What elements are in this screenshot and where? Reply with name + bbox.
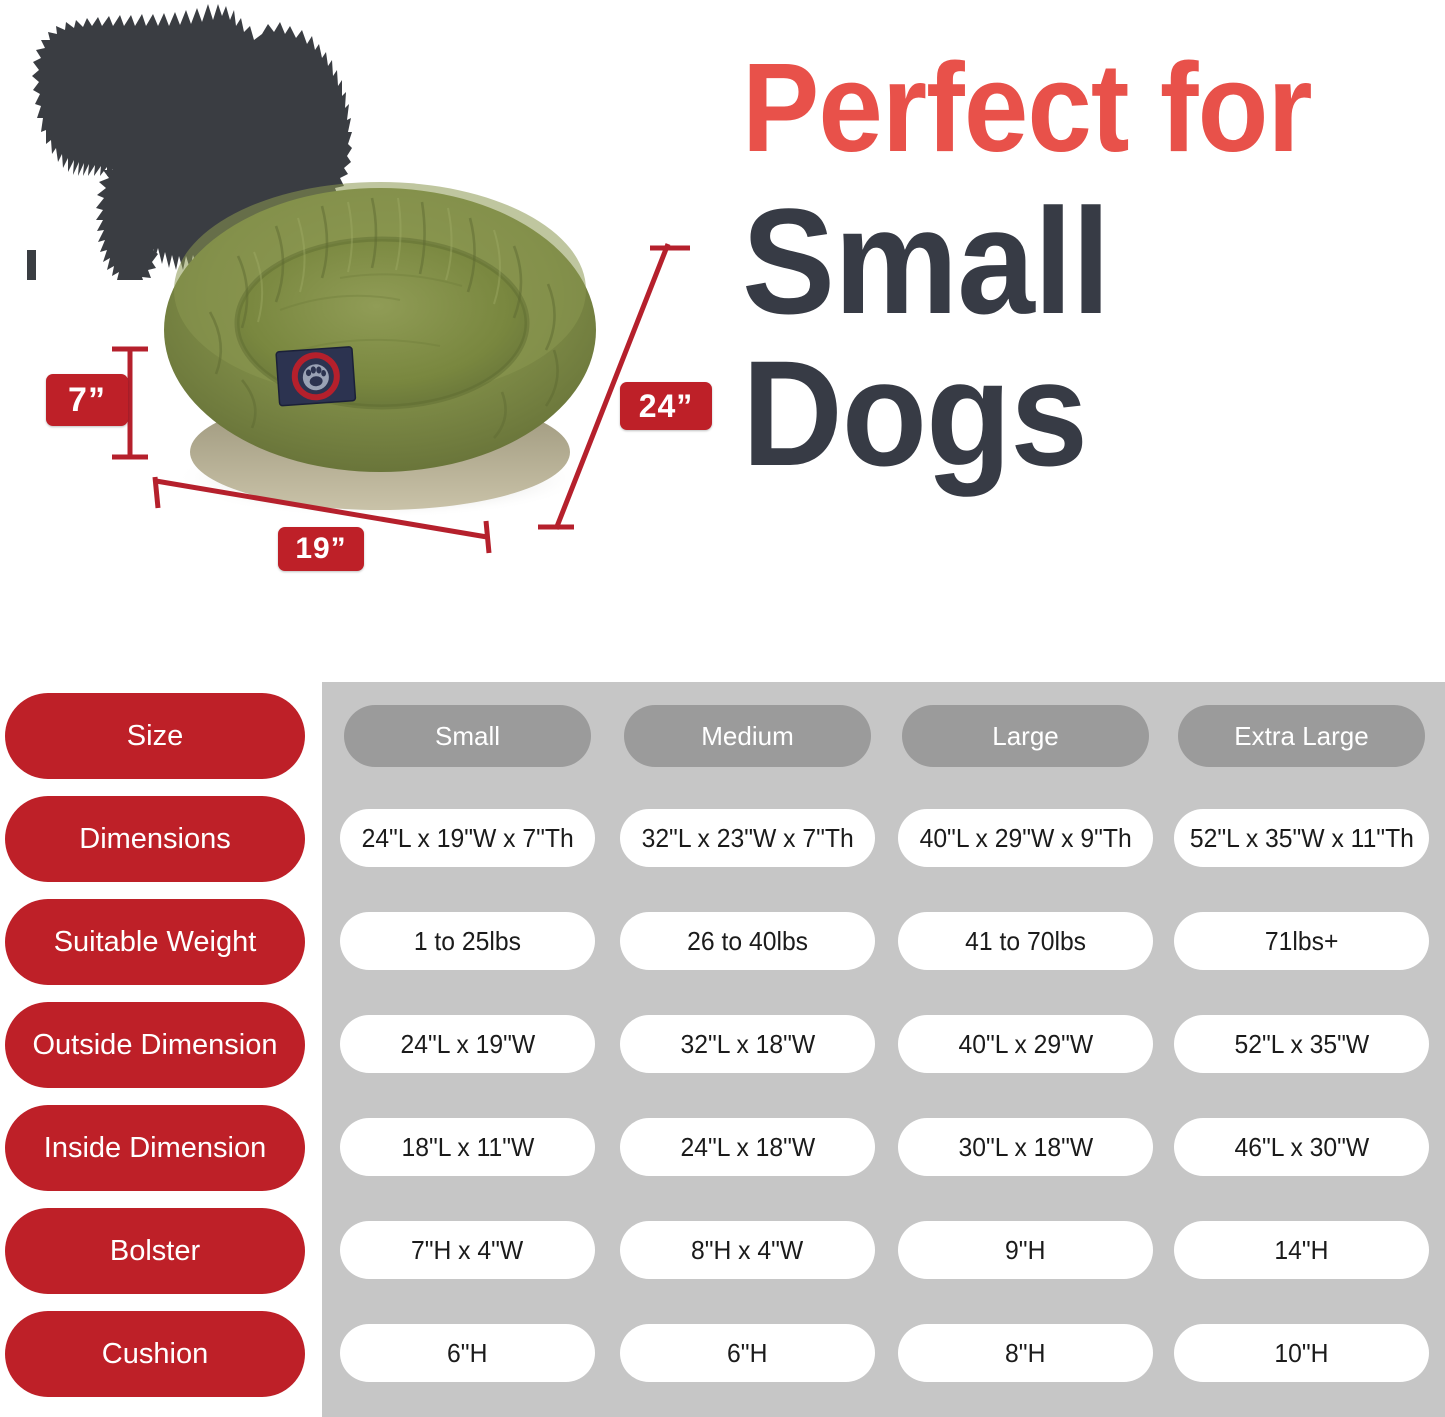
row-label-bolster: Bolster: [5, 1208, 305, 1294]
cell-weight-small: 1 to 25lbs: [340, 912, 595, 970]
headline-line-3: Dogs: [742, 342, 1393, 485]
cell-cushion-small: 6"H: [340, 1324, 595, 1382]
cell-cushion-medium: 6"H: [620, 1324, 875, 1382]
cell-cushion-xlarge: 10"H: [1174, 1324, 1429, 1382]
cell-bolster-small: 7"H x 4"W: [340, 1221, 595, 1279]
headline-block: Perfect for Small Dogs: [742, 48, 1442, 485]
cell-inside-medium: 24"L x 18"W: [620, 1118, 875, 1176]
cell-dimensions-large: 40"L x 29"W x 9"Th: [898, 809, 1153, 867]
cell-weight-medium: 26 to 40lbs: [620, 912, 875, 970]
column-header-extra-large: Extra Large: [1178, 705, 1425, 767]
cell-inside-large: 30"L x 18"W: [898, 1118, 1153, 1176]
cell-weight-large: 41 to 70lbs: [898, 912, 1153, 970]
row-label-suitable-weight: Suitable Weight: [5, 899, 305, 985]
dimension-badge-width: 19”: [278, 527, 364, 571]
cell-bolster-xlarge: 14"H: [1174, 1221, 1429, 1279]
column-header-medium: Medium: [624, 705, 871, 767]
hero-section: 7” 19” 24” Perfect for Small Dogs: [0, 0, 1445, 682]
headline-line-1: Perfect for: [742, 48, 1386, 168]
cell-inside-xlarge: 46"L x 30"W: [1174, 1118, 1429, 1176]
cell-dimensions-small: 24"L x 19"W x 7"Th: [340, 809, 595, 867]
cell-bolster-medium: 8"H x 4"W: [620, 1221, 875, 1279]
headline-line-2: Small: [742, 190, 1393, 333]
row-label-inside-dimension: Inside Dimension: [5, 1105, 305, 1191]
row-label-dimensions: Dimensions: [5, 796, 305, 882]
spec-row-label-column: Size Dimensions Suitable Weight Outside …: [0, 682, 322, 1417]
dimension-badge-height: 7”: [46, 374, 128, 426]
cell-bolster-large: 9"H: [898, 1221, 1153, 1279]
row-label-outside-dimension: Outside Dimension: [5, 1002, 305, 1088]
cell-inside-small: 18"L x 11"W: [340, 1118, 595, 1176]
column-header-small: Small: [344, 705, 591, 767]
spec-table: Size Dimensions Suitable Weight Outside …: [0, 682, 1445, 1417]
cell-outside-medium: 32"L x 18"W: [620, 1015, 875, 1073]
cell-dimensions-xlarge: 52"L x 35"W x 11"Th: [1174, 809, 1429, 867]
cell-outside-large: 40"L x 29"W: [898, 1015, 1153, 1073]
cell-outside-xlarge: 52"L x 35"W: [1174, 1015, 1429, 1073]
cell-cushion-large: 8"H: [898, 1324, 1153, 1382]
cell-outside-small: 24"L x 19"W: [340, 1015, 595, 1073]
row-label-cushion: Cushion: [5, 1311, 305, 1397]
column-header-large: Large: [902, 705, 1149, 767]
dimension-badge-length: 24”: [620, 382, 712, 430]
row-label-size: Size: [5, 693, 305, 779]
cell-dimensions-medium: 32"L x 23"W x 7"Th: [620, 809, 875, 867]
cell-weight-xlarge: 71lbs+: [1174, 912, 1429, 970]
